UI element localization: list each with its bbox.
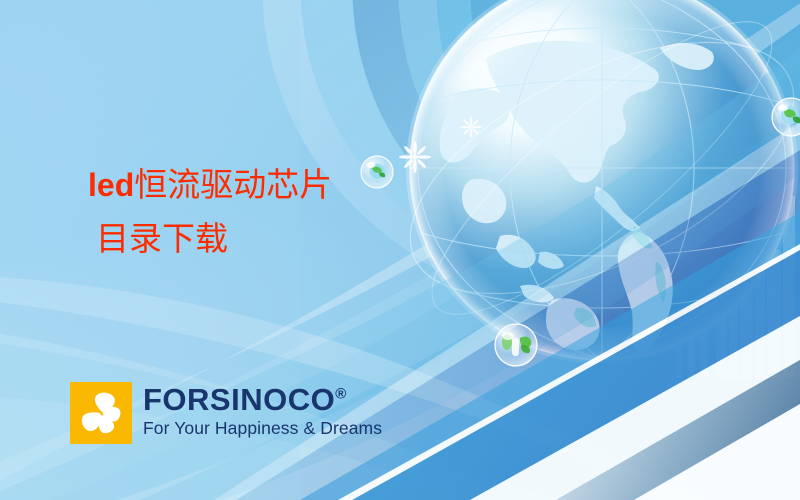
brand-name-text: FORSINOCO <box>143 382 335 417</box>
bubble-globe-small <box>361 156 393 188</box>
company-logo: FORSINOCO® For Your Happiness & Dreams <box>70 382 382 444</box>
registered-trademark-icon: ® <box>335 386 347 403</box>
four-petal-flower-icon <box>70 382 132 444</box>
banner-canvas: led恒流驱动芯片 目录下载 FORSINOCO® For Your Happi… <box>0 0 800 500</box>
logo-wordmark: FORSINOCO® For Your Happiness & Dreams <box>143 382 382 438</box>
bubble-sprout <box>495 324 537 366</box>
brand-name: FORSINOCO® <box>143 384 382 415</box>
brand-tagline: For Your Happiness & Dreams <box>143 418 382 438</box>
